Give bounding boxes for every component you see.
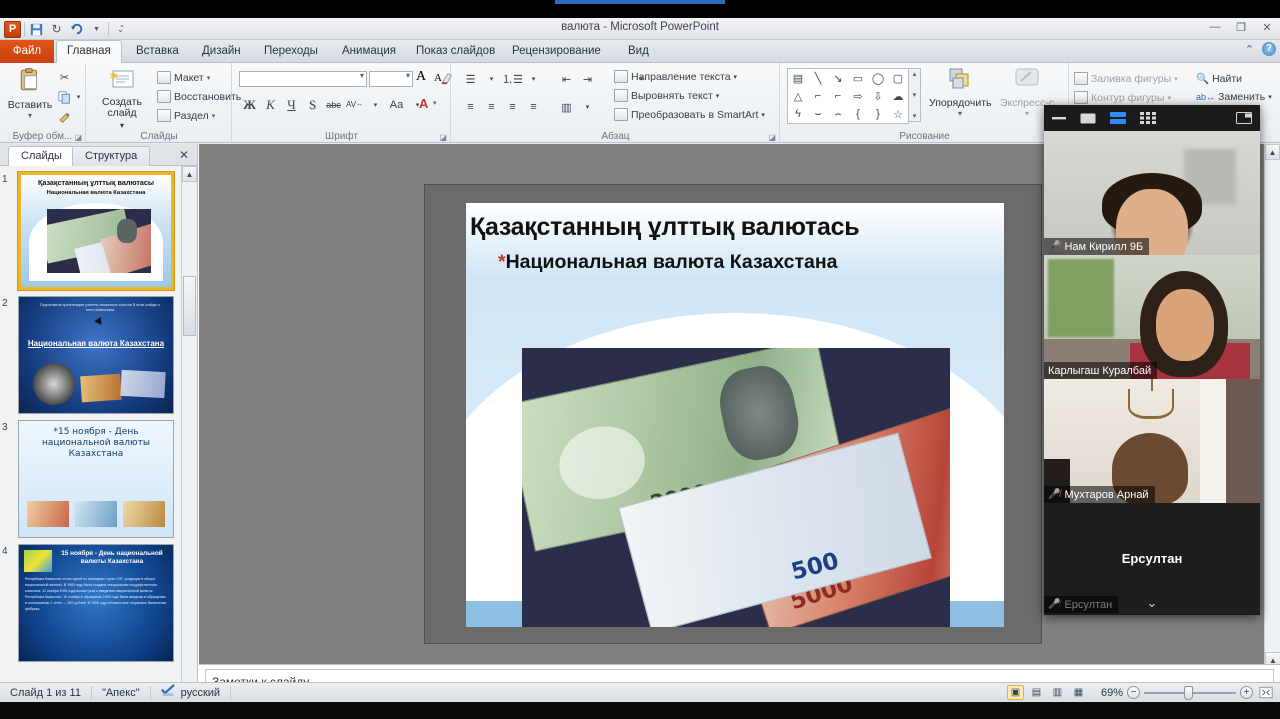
shapes-gallery[interactable]: ▤ ╲ ↘ ▭ ◯ ▢ △ ⌐ ⌐ ⇨ ⇩ ☁ ϟ ⌣ ⌢ { } ☆ bbox=[787, 68, 909, 124]
spellcheck-status[interactable]: русский bbox=[151, 686, 231, 700]
justify-button[interactable]: ≡ bbox=[525, 99, 542, 115]
shape-arc-icon[interactable]: ⌢ bbox=[828, 105, 848, 123]
smartart-icon bbox=[614, 108, 628, 121]
shape-line-icon[interactable]: ╲ bbox=[808, 69, 828, 87]
tab-insert[interactable]: Вставка bbox=[126, 40, 189, 63]
slides-pane-scrollbar[interactable]: ▲ ▼ bbox=[181, 166, 197, 700]
arrange-button[interactable]: Упорядочить ▾ bbox=[929, 67, 991, 118]
section-icon bbox=[157, 109, 171, 122]
bullet-marker: * bbox=[498, 251, 506, 273]
font-name-input[interactable] bbox=[239, 71, 367, 87]
shapes-scroll-up-icon[interactable]: ▴ bbox=[913, 70, 917, 78]
align-left-button[interactable]: ≡ bbox=[462, 99, 479, 115]
shape-curve-icon[interactable]: ⌣ bbox=[808, 105, 828, 123]
group-label-drawing: Рисование bbox=[781, 131, 1068, 142]
numbering-dropdown-icon[interactable]: ▾ bbox=[525, 71, 542, 87]
slide-number: 4 bbox=[2, 546, 8, 557]
participant-display-name: Ерсултан bbox=[1122, 551, 1183, 566]
video-conference-panel[interactable]: 🎤̸ Нам Кирилл 9Б Карлыгаш Куралбай 🎤̸ Му… bbox=[1044, 105, 1260, 615]
thumb-image bbox=[47, 209, 151, 273]
find-icon: 🔍 bbox=[1196, 72, 1209, 85]
decrease-indent-button[interactable]: ⇤ bbox=[558, 71, 575, 87]
shape-fill-label: Заливка фигуры bbox=[1091, 73, 1171, 85]
participant-video bbox=[1044, 379, 1260, 503]
slide-thumbnail-frame: *15 ноября - День национальной валюты Ка… bbox=[18, 420, 174, 538]
find-button[interactable]: 🔍 Найти bbox=[1196, 72, 1242, 85]
participant-video bbox=[1044, 131, 1260, 255]
ribbon-group-font: A A Ж К Ч S abc AV↔ ▾ Aa ▾ A ▾ Шрифт ◪ bbox=[233, 63, 451, 143]
format-painter-icon[interactable] bbox=[56, 109, 73, 125]
desktop-top-strip bbox=[0, 0, 1280, 18]
bold-button[interactable]: Ж bbox=[241, 97, 258, 113]
text-direction-icon bbox=[614, 70, 628, 83]
help-icon[interactable]: ? bbox=[1262, 42, 1276, 56]
group-label-font: Шрифт bbox=[233, 131, 450, 142]
thumb-banknote-image bbox=[120, 370, 165, 398]
copy-dropdown-icon[interactable]: ▾ bbox=[70, 89, 87, 105]
clipboard-dialog-launcher-icon[interactable]: ◪ bbox=[74, 133, 82, 142]
thumb-title: 15 ноября - День национальной валюты Каз… bbox=[55, 550, 169, 567]
tab-view[interactable]: Вид bbox=[618, 40, 659, 63]
slide-sorter-view-button[interactable]: ▤ bbox=[1028, 685, 1045, 700]
slide-counter: Слайд 1 из 11 bbox=[0, 686, 92, 700]
status-bar-right[interactable]: ▣ ▤ ▥ ▦ 69% − + bbox=[1007, 685, 1280, 700]
shape-elbow-icon[interactable]: ⌐ bbox=[808, 87, 828, 105]
participant-name: Мухтаров Арнай bbox=[1064, 489, 1148, 501]
group-label-clipboard: Буфер обм... bbox=[0, 131, 85, 142]
ribbon-right-controls[interactable]: ⌃ ? bbox=[1245, 42, 1276, 56]
participant-video bbox=[1044, 255, 1260, 379]
shape-freeform-icon[interactable]: ϟ bbox=[788, 105, 808, 123]
participant-tile-4[interactable]: Ерсултан 🎤̸ Ерсултан ⌄ bbox=[1044, 503, 1260, 613]
scrollbar-thumb[interactable] bbox=[183, 276, 196, 336]
taskbar-active-tab-indicator bbox=[555, 0, 725, 4]
shape-fill-icon bbox=[1074, 72, 1088, 85]
reset-icon bbox=[157, 90, 171, 103]
thumb-title: Қазақстанның ұлттық валютасы bbox=[24, 178, 168, 187]
section-label: Раздел bbox=[174, 110, 209, 122]
slides-pane: Слайды Структура ✕ 1 Қазақстанның ұлттық… bbox=[0, 144, 198, 700]
shape-outline-button[interactable]: Контур фигуры ▾ bbox=[1074, 91, 1171, 104]
language-label: русский bbox=[181, 686, 220, 700]
arrange-label: Упорядочить bbox=[929, 97, 991, 109]
zoom-in-button[interactable]: + bbox=[1240, 686, 1253, 699]
shapes-scrollbar[interactable]: ▴ ▾ ▾ bbox=[908, 68, 921, 122]
convert-to-smartart-button[interactable]: Преобразовать в SmartArt ▾ bbox=[614, 108, 765, 121]
slide-title[interactable]: Қазақстанның ұлттық валютась bbox=[470, 213, 1004, 242]
thumb-content: Қазақстанның ұлттық валютасы Национальна… bbox=[21, 175, 171, 287]
slide-number: 1 bbox=[2, 174, 8, 185]
banknote-portrait bbox=[713, 360, 805, 465]
shape-triangle-icon[interactable]: △ bbox=[788, 87, 808, 105]
text-direction-button[interactable]: Направление текста ▾ bbox=[614, 70, 737, 83]
slide-thumbnail-list[interactable]: 1 Қазақстанның ұлттық валютасы Националь… bbox=[0, 166, 182, 700]
character-spacing-dropdown-icon[interactable]: ▾ bbox=[367, 97, 384, 113]
video-toolbar-right[interactable] bbox=[1236, 112, 1252, 124]
chandelier-decor bbox=[1128, 389, 1174, 419]
ribbon-tab-strip[interactable]: Файл Главная Вставка Дизайн Переходы Ани… bbox=[0, 40, 1280, 63]
shape-down-arrow-icon[interactable]: ⇩ bbox=[868, 87, 888, 105]
thumb-title: Национальная валюта Казахстана bbox=[19, 339, 173, 349]
slide-image-banknotes[interactable]: 2000 5000 500 bbox=[522, 348, 950, 627]
align-center-button[interactable]: ≡ bbox=[483, 99, 500, 115]
text-direction-label: Направление текста bbox=[631, 71, 731, 83]
slide-thumbnail-frame: Қазақстанның ұлттық валютасы Национальна… bbox=[18, 172, 174, 290]
bullets-button[interactable]: ☰ bbox=[462, 71, 479, 87]
smartart-label: Преобразовать в SmartArt bbox=[631, 109, 758, 121]
slide-number: 2 bbox=[2, 298, 8, 309]
participant-name-bar: 🎤̸ Нам Кирилл 9Б bbox=[1044, 238, 1149, 255]
slide-thumbnail-4[interactable]: 4 15 ноября - День национальной валюты К… bbox=[18, 544, 174, 662]
text-shadow-button[interactable]: S bbox=[304, 97, 321, 113]
group-label-paragraph: Абзац bbox=[452, 131, 779, 142]
window-title: валюта - Microsoft PowerPoint bbox=[0, 21, 1280, 33]
underline-button[interactable]: Ч bbox=[283, 97, 300, 113]
thumb-logo-image bbox=[24, 550, 52, 572]
reset-label: Восстановить bbox=[174, 91, 241, 103]
banknote-denomination: 500 bbox=[789, 548, 842, 586]
shape-ellipse-icon[interactable]: ◯ bbox=[868, 69, 888, 87]
shape-rounded-rect-icon[interactable]: ▢ bbox=[888, 69, 908, 87]
status-bar: Слайд 1 из 11 "Апекс" русский ▣ ▤ ▥ ▦ 69… bbox=[0, 682, 1280, 702]
shape-cloud-icon[interactable]: ☁ bbox=[888, 87, 908, 105]
shape-elbow2-icon[interactable]: ⌐ bbox=[828, 87, 848, 105]
banknote-watermark bbox=[553, 419, 652, 507]
gallery-view-icon[interactable] bbox=[1140, 112, 1156, 124]
strikethrough-button[interactable]: abc bbox=[325, 97, 342, 113]
new-slide-button[interactable]: Создать слайд ▾ bbox=[91, 69, 153, 131]
shape-fill-button[interactable]: Заливка фигуры ▾ bbox=[1074, 72, 1178, 85]
shape-arrow-icon[interactable]: ↘ bbox=[828, 69, 848, 87]
participant-tile-2[interactable]: Карлыгаш Куралбай bbox=[1044, 255, 1260, 379]
thumb-content: Подготовила презентацию учитель начальны… bbox=[19, 297, 173, 413]
window-controls[interactable]: — ❐ ✕ bbox=[1208, 21, 1274, 34]
tab-slides[interactable]: Слайды bbox=[8, 146, 75, 167]
layout-button[interactable]: Макет ▾ bbox=[157, 71, 210, 84]
slide-number: 3 bbox=[2, 422, 8, 433]
zoom-slider[interactable] bbox=[1144, 686, 1236, 700]
slide-thumbnail-1[interactable]: 1 Қазақстанның ұлттық валютасы Националь… bbox=[18, 172, 174, 290]
collapse-ribbon-icon[interactable]: ⌃ bbox=[1245, 43, 1254, 56]
desktop-bottom-strip bbox=[0, 702, 1280, 719]
participant-tile-3[interactable]: 🎤̸ Мухтаров Арнай bbox=[1044, 379, 1260, 503]
ribbon-group-clipboard: Вставить ▾ ✂ ▾ Буфер обм... ◪ bbox=[0, 63, 86, 143]
replace-label: Заменить bbox=[1218, 91, 1265, 103]
reading-view-button[interactable]: ▥ bbox=[1049, 685, 1066, 700]
scroll-up-icon[interactable]: ▲ bbox=[182, 166, 197, 182]
normal-view-button[interactable]: ▣ bbox=[1007, 685, 1024, 700]
shape-textbox-icon[interactable]: ▤ bbox=[788, 69, 808, 87]
zoom-level-label[interactable]: 69% bbox=[1101, 687, 1123, 699]
layout-label: Макет bbox=[174, 72, 204, 84]
tab-review[interactable]: Рецензирование bbox=[502, 40, 611, 63]
slide-thumbnail-3[interactable]: 3 *15 ноября - День национальной валюты … bbox=[18, 420, 174, 538]
shapes-scroll-down-icon[interactable]: ▾ bbox=[913, 91, 917, 99]
tab-home[interactable]: Главная bbox=[56, 40, 122, 63]
character-spacing-button[interactable]: AV↔ bbox=[346, 97, 363, 113]
thumb-coin-image bbox=[33, 363, 75, 405]
background-curtain bbox=[1226, 379, 1260, 503]
tab-outline[interactable]: Структура bbox=[72, 146, 150, 166]
minimize-icon[interactable] bbox=[1052, 116, 1066, 120]
bullets-dropdown-icon[interactable]: ▾ bbox=[483, 71, 500, 87]
slideshow-view-button[interactable]: ▦ bbox=[1070, 685, 1087, 700]
single-view-icon[interactable] bbox=[1080, 113, 1096, 124]
italic-button[interactable]: К bbox=[262, 97, 279, 113]
background-window-light bbox=[1200, 379, 1226, 503]
columns-dropdown-icon[interactable]: ▾ bbox=[579, 99, 596, 115]
close-pane-icon[interactable]: ✕ bbox=[179, 148, 189, 162]
layout-icon bbox=[157, 71, 171, 84]
title-bar: P ↻ ▼ ⌄̄ валюта - Microsoft PowerPoint —… bbox=[0, 18, 1280, 40]
align-text-icon bbox=[614, 89, 628, 102]
ribbon-group-drawing: ▤ ╲ ↘ ▭ ◯ ▢ △ ⌐ ⌐ ⇨ ⇩ ☁ ϟ ⌣ ⌢ { } ☆ ▴ bbox=[781, 63, 1069, 143]
group-label-slides: Слайды bbox=[87, 131, 231, 142]
replace-icon: ab↔ bbox=[1196, 92, 1215, 102]
thumb-content: 15 ноября - День национальной валюты Каз… bbox=[19, 545, 173, 661]
thumb-content: *15 ноября - День национальной валюты Ка… bbox=[19, 421, 173, 537]
change-case-button[interactable]: Aa bbox=[388, 97, 405, 113]
paste-icon bbox=[6, 67, 54, 99]
columns-button[interactable]: ▥ bbox=[558, 99, 575, 115]
font-color-button[interactable]: A bbox=[419, 96, 428, 111]
shapes-more-icon[interactable]: ▾ bbox=[913, 112, 917, 120]
minimize-button[interactable]: — bbox=[1208, 21, 1222, 34]
tab-slideshow[interactable]: Показ слайдов bbox=[406, 40, 505, 63]
participant-tile-1[interactable]: 🎤̸ Нам Кирилл 9Б bbox=[1044, 131, 1260, 255]
participant-name: Карлыгаш Куралбай bbox=[1048, 365, 1151, 377]
arrange-icon bbox=[929, 67, 991, 97]
thumb-caption: Подготовила презентацию учитель начальны… bbox=[37, 303, 163, 314]
mic-muted-icon: 🎤̸ bbox=[1048, 599, 1060, 610]
new-slide-icon bbox=[91, 69, 153, 97]
zoom-out-button[interactable]: − bbox=[1127, 686, 1140, 699]
shape-star-icon[interactable]: ☆ bbox=[888, 105, 908, 123]
thumb-subtitle: Национальная валюта Казахстана bbox=[24, 190, 168, 196]
paragraph-dialog-launcher-icon[interactable]: ◪ bbox=[768, 133, 776, 142]
participant-name-bar: Карлыгаш Куралбай bbox=[1044, 362, 1157, 379]
slide-subtitle-text: Национальная валюта Казахстана bbox=[506, 251, 838, 273]
status-spacer bbox=[231, 686, 239, 700]
font-dialog-launcher-icon[interactable]: ◪ bbox=[439, 133, 447, 142]
mic-muted-icon: 🎤̸ bbox=[1048, 241, 1060, 252]
increase-indent-button[interactable]: ⇥ bbox=[579, 71, 596, 87]
slide-thumbnail-frame: Подготовила презентацию учитель начальны… bbox=[18, 296, 174, 414]
video-toolbar[interactable] bbox=[1044, 105, 1260, 131]
shape-rectangle-icon[interactable]: ▭ bbox=[848, 69, 868, 87]
ribbon-group-paragraph: ☰ ▾ ⒈☰ ▾ ⇤ ⇥ ↕☰ ▾ ≡ ≡ ≡ ≡ ▥ ▾ bbox=[452, 63, 780, 143]
font-size-input[interactable] bbox=[369, 71, 413, 87]
participant-name-bar: 🎤̸ Ерсултан bbox=[1044, 596, 1118, 613]
participant-name: Нам Кирилл 9Б bbox=[1064, 241, 1143, 253]
participant-name: Ерсултан bbox=[1064, 599, 1112, 611]
expand-participants-icon[interactable]: ⌄ bbox=[1147, 595, 1158, 611]
current-slide[interactable]: Қазақстанның ұлттық валютась *Национальн… bbox=[466, 203, 1004, 627]
participant-name-bar: 🎤̸ Мухтаров Арнай bbox=[1044, 486, 1155, 503]
spellcheck-icon bbox=[161, 684, 176, 701]
numbering-button[interactable]: ⒈☰ bbox=[504, 71, 521, 87]
thumb-banknote-image bbox=[80, 374, 122, 403]
slide-thumbnail-frame: 15 ноября - День национальной валюты Каз… bbox=[18, 544, 174, 662]
popout-icon[interactable] bbox=[1236, 112, 1252, 124]
section-button[interactable]: Раздел ▾ bbox=[157, 109, 215, 122]
tab-transitions[interactable]: Переходы bbox=[254, 40, 328, 63]
slide-thumbnail-2[interactable]: 2 Подготовила презентацию учитель началь… bbox=[18, 296, 174, 414]
reset-button[interactable]: Восстановить bbox=[157, 90, 241, 103]
find-label: Найти bbox=[1212, 73, 1242, 85]
new-slide-label: Создать слайд bbox=[91, 97, 153, 119]
ribbon-group-slides: Создать слайд ▾ Макет ▾ Восстановить Раз… bbox=[87, 63, 232, 143]
font-color-dropdown-icon[interactable]: ▾ bbox=[433, 99, 437, 107]
tab-file[interactable]: Файл bbox=[0, 40, 54, 63]
thumb-image-row bbox=[27, 501, 165, 527]
shape-right-brace-icon[interactable]: } bbox=[868, 105, 888, 123]
thumb-title: *15 ноября - День национальной валюты Ка… bbox=[25, 427, 167, 460]
theme-name: "Апекс" bbox=[92, 686, 151, 700]
slides-pane-tabs[interactable]: Слайды Структура ✕ bbox=[0, 144, 197, 166]
shape-right-arrow-icon[interactable]: ⇨ bbox=[848, 87, 868, 105]
align-right-button[interactable]: ≡ bbox=[504, 99, 521, 115]
replace-button[interactable]: ab↔ Заменить ▾ bbox=[1196, 91, 1272, 103]
close-button[interactable]: ✕ bbox=[1260, 21, 1274, 34]
align-text-label: Выровнять текст bbox=[631, 90, 713, 102]
restore-button[interactable]: ❐ bbox=[1234, 21, 1248, 34]
paste-button[interactable]: Вставить ▾ bbox=[6, 67, 54, 120]
fit-to-window-button[interactable] bbox=[1257, 685, 1274, 700]
editor-scroll-up-icon[interactable]: ▲ bbox=[1265, 144, 1280, 160]
shape-outline-icon bbox=[1074, 91, 1088, 104]
cut-icon[interactable]: ✂ bbox=[56, 69, 73, 85]
quick-styles-icon bbox=[995, 67, 1059, 97]
background-window bbox=[1048, 259, 1114, 337]
shape-left-brace-icon[interactable]: { bbox=[848, 105, 868, 123]
slide-canvas-frame[interactable]: Қазақстанның ұлттық валютась *Национальн… bbox=[424, 184, 1042, 644]
slide-subtitle[interactable]: *Национальная валюта Казахстана bbox=[498, 251, 838, 274]
tab-animations[interactable]: Анимация bbox=[332, 40, 406, 63]
align-text-button[interactable]: Выровнять текст ▾ bbox=[614, 89, 719, 102]
mic-muted-icon: 🎤̸ bbox=[1048, 489, 1060, 500]
paste-label: Вставить bbox=[8, 99, 53, 111]
thumb-body: Республика Казахстан стала одной из посл… bbox=[25, 577, 167, 613]
split-view-icon[interactable] bbox=[1110, 112, 1126, 124]
zoom-slider-handle[interactable] bbox=[1184, 686, 1193, 700]
person-face bbox=[1156, 289, 1214, 361]
editor-scrollbar[interactable]: ▲ ▲ ▼ ▼ bbox=[1264, 144, 1280, 700]
shape-outline-label: Контур фигуры bbox=[1091, 92, 1164, 104]
tab-design[interactable]: Дизайн bbox=[192, 40, 251, 63]
